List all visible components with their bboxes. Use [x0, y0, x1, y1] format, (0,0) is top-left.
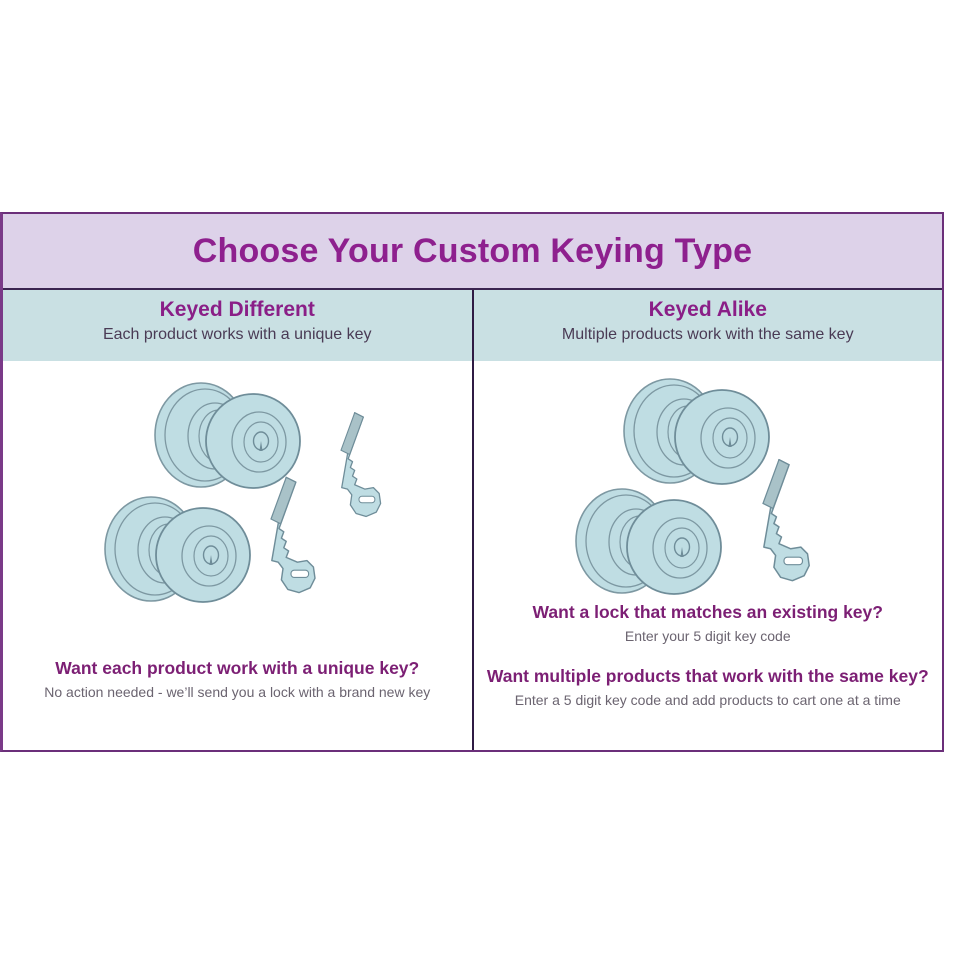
column-keyed-different[interactable]: Keyed Different Each product works with …	[3, 290, 474, 750]
card-header: Choose Your Custom Keying Type	[3, 214, 942, 290]
copy-heading: Want each product work with a unique key…	[3, 657, 472, 680]
keyed-different-header: Keyed Different Each product works with …	[3, 290, 472, 361]
keyed-alike-copy-existing-key: Want a lock that matches an existing key…	[474, 601, 943, 646]
keyed-alike-subtitle: Multiple products work with the same key	[474, 324, 943, 346]
key-icon	[271, 477, 315, 592]
keyed-different-title: Keyed Different	[3, 297, 472, 323]
keyed-different-subtitle: Each product works with a unique key	[3, 324, 472, 346]
keyed-alike-copy-multiple-products: Want multiple products that work with th…	[474, 665, 943, 710]
key-icon	[341, 413, 381, 517]
door-knob-icon	[576, 489, 721, 594]
comparison-columns: Keyed Different Each product works with …	[3, 290, 942, 750]
keyed-alike-header: Keyed Alike Multiple products work with …	[474, 290, 943, 361]
page-title: Choose Your Custom Keying Type	[193, 234, 753, 268]
copy-detail: No action needed - we’ll send you a lock…	[3, 683, 472, 702]
copy-heading: Want a lock that matches an existing key…	[474, 601, 943, 624]
keyed-alike-title: Keyed Alike	[474, 297, 943, 323]
copy-detail: Enter your 5 digit key code	[474, 627, 943, 646]
keyed-different-copy: Want each product work with a unique key…	[3, 657, 472, 702]
key-icon	[763, 460, 809, 581]
door-knob-icon	[155, 383, 300, 488]
page-canvas: Choose Your Custom Keying Type Keyed Dif…	[0, 0, 960, 960]
copy-detail: Enter a 5 digit key code and add product…	[474, 691, 943, 710]
column-keyed-alike[interactable]: Keyed Alike Multiple products work with …	[474, 290, 943, 750]
copy-heading: Want multiple products that work with th…	[474, 665, 943, 688]
keying-type-card: Choose Your Custom Keying Type Keyed Dif…	[0, 212, 944, 752]
door-knob-icon	[624, 379, 769, 484]
door-knob-icon	[105, 497, 250, 602]
